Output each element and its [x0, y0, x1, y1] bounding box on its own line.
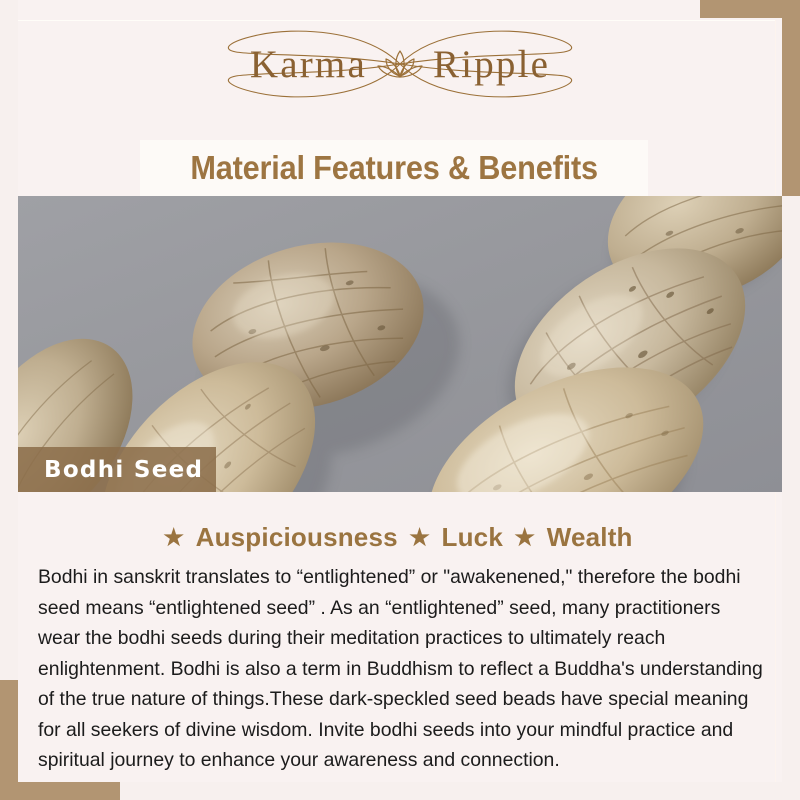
star-icon-3: ★	[514, 524, 535, 550]
infographic-page: Karma Ripple Material Features & Benefit…	[0, 0, 800, 800]
corner-decoration-bottom-left-horizontal	[0, 782, 120, 800]
brand-logo: Karma Ripple	[190, 25, 610, 103]
star-icon-2: ★	[409, 524, 430, 550]
benefit-wealth: Wealth	[547, 522, 633, 552]
seed-name-label: Bodhi Seed	[18, 457, 203, 483]
benefits-line: ★ Auspiciousness ★ Luck ★ Wealth	[0, 522, 800, 553]
description-paragraph: Bodhi in sanskrit translates to “entligh…	[38, 562, 766, 776]
benefit-luck: Luck	[442, 522, 503, 552]
seed-name-band: Bodhi Seed	[18, 447, 216, 492]
brand-name-right: Ripple	[433, 42, 550, 87]
lotus-icon	[377, 47, 423, 81]
benefit-auspiciousness: Auspiciousness	[196, 522, 398, 552]
brand-name-left: Karma	[250, 42, 367, 87]
title-banner: Material Features & Benefits	[140, 140, 648, 196]
page-title: Material Features & Benefits	[190, 149, 598, 187]
brand-wordmark: Karma Ripple	[250, 42, 550, 87]
brand-header: Karma Ripple	[0, 0, 800, 128]
star-icon-1: ★	[163, 524, 184, 550]
